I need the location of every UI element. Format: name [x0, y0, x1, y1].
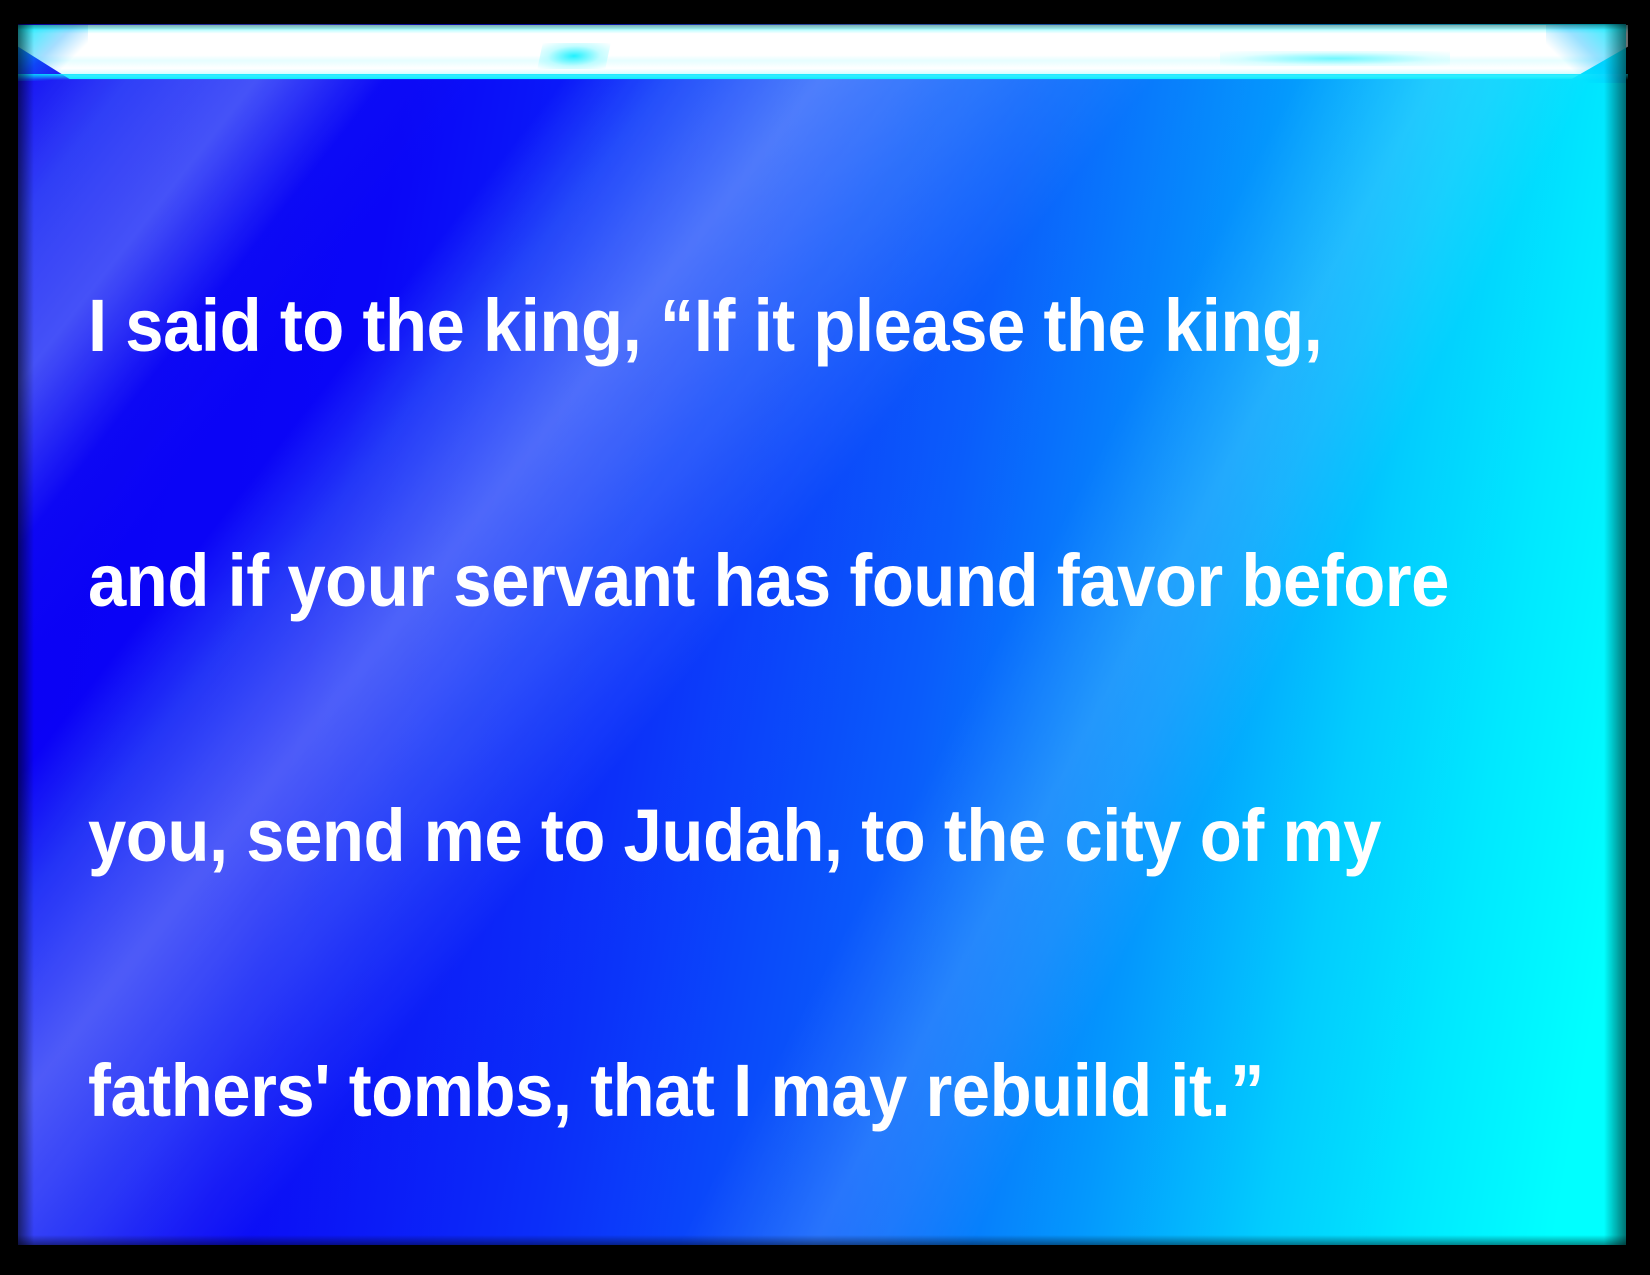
verse-line-1: I said to the king, “If it please the ki…: [88, 283, 1455, 368]
band-left-bevel: [18, 25, 88, 81]
band-right-bevel: [1546, 25, 1626, 83]
band-cyan-wisp-right: [1220, 51, 1450, 66]
verse-line-2: and if your servant has found favor befo…: [88, 538, 1455, 623]
band-bottom-edge-glow: [18, 74, 1628, 80]
verse-text-block: I said to the king, “If it please the ki…: [88, 113, 1558, 1275]
band-cyan-wisp-left: [537, 43, 611, 69]
verse-line-4: fathers' tombs, that I may rebuild it.”: [88, 1048, 1455, 1133]
verse-line-3: you, send me to Judah, to the city of my: [88, 793, 1455, 878]
scripture-slide: I said to the king, “If it please the ki…: [0, 0, 1650, 1275]
